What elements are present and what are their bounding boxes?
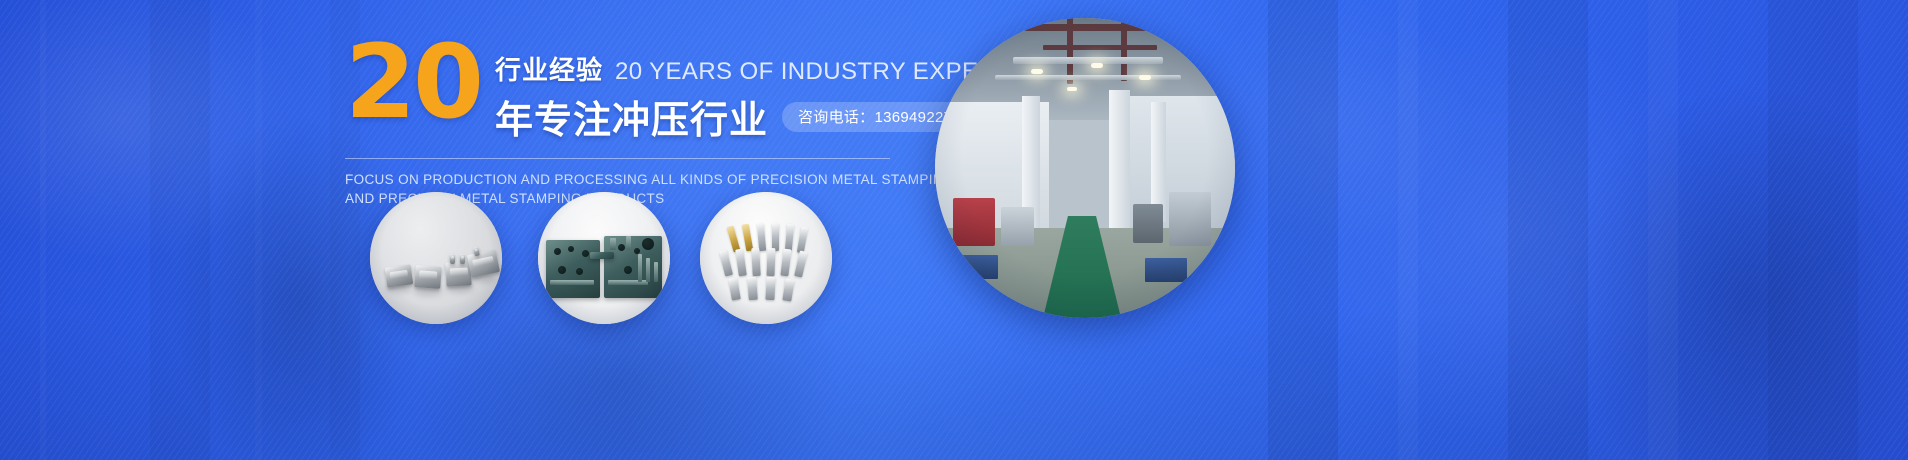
product-circle-connectors: [370, 192, 502, 324]
terminal-photo-vignette: [700, 192, 832, 324]
factory-workshop-photo: [935, 18, 1235, 318]
connector-photo-vignette: [370, 192, 502, 324]
die-photo-vignette: [538, 192, 670, 324]
headline-divider: [345, 158, 890, 159]
headline-row: 20 行业经验 20 YEARS OF INDUSTRY EXPERIENCE …: [345, 42, 905, 144]
years-number: 20: [345, 36, 481, 130]
product-circle-terminals: [700, 192, 832, 324]
factory-photo-vignette: [935, 18, 1235, 318]
headline-cn: 年专注冲压行业: [495, 89, 768, 144]
experience-label-cn: 行业经验: [495, 50, 603, 87]
subtitle-line-1: FOCUS ON PRODUCTION AND PROCESSING ALL K…: [345, 170, 905, 189]
headline-block: 20 行业经验 20 YEARS OF INDUSTRY EXPERIENCE …: [345, 42, 905, 208]
promo-banner: 20 行业经验 20 YEARS OF INDUSTRY EXPERIENCE …: [0, 0, 1908, 460]
product-circle-stamping-die: [538, 192, 670, 324]
